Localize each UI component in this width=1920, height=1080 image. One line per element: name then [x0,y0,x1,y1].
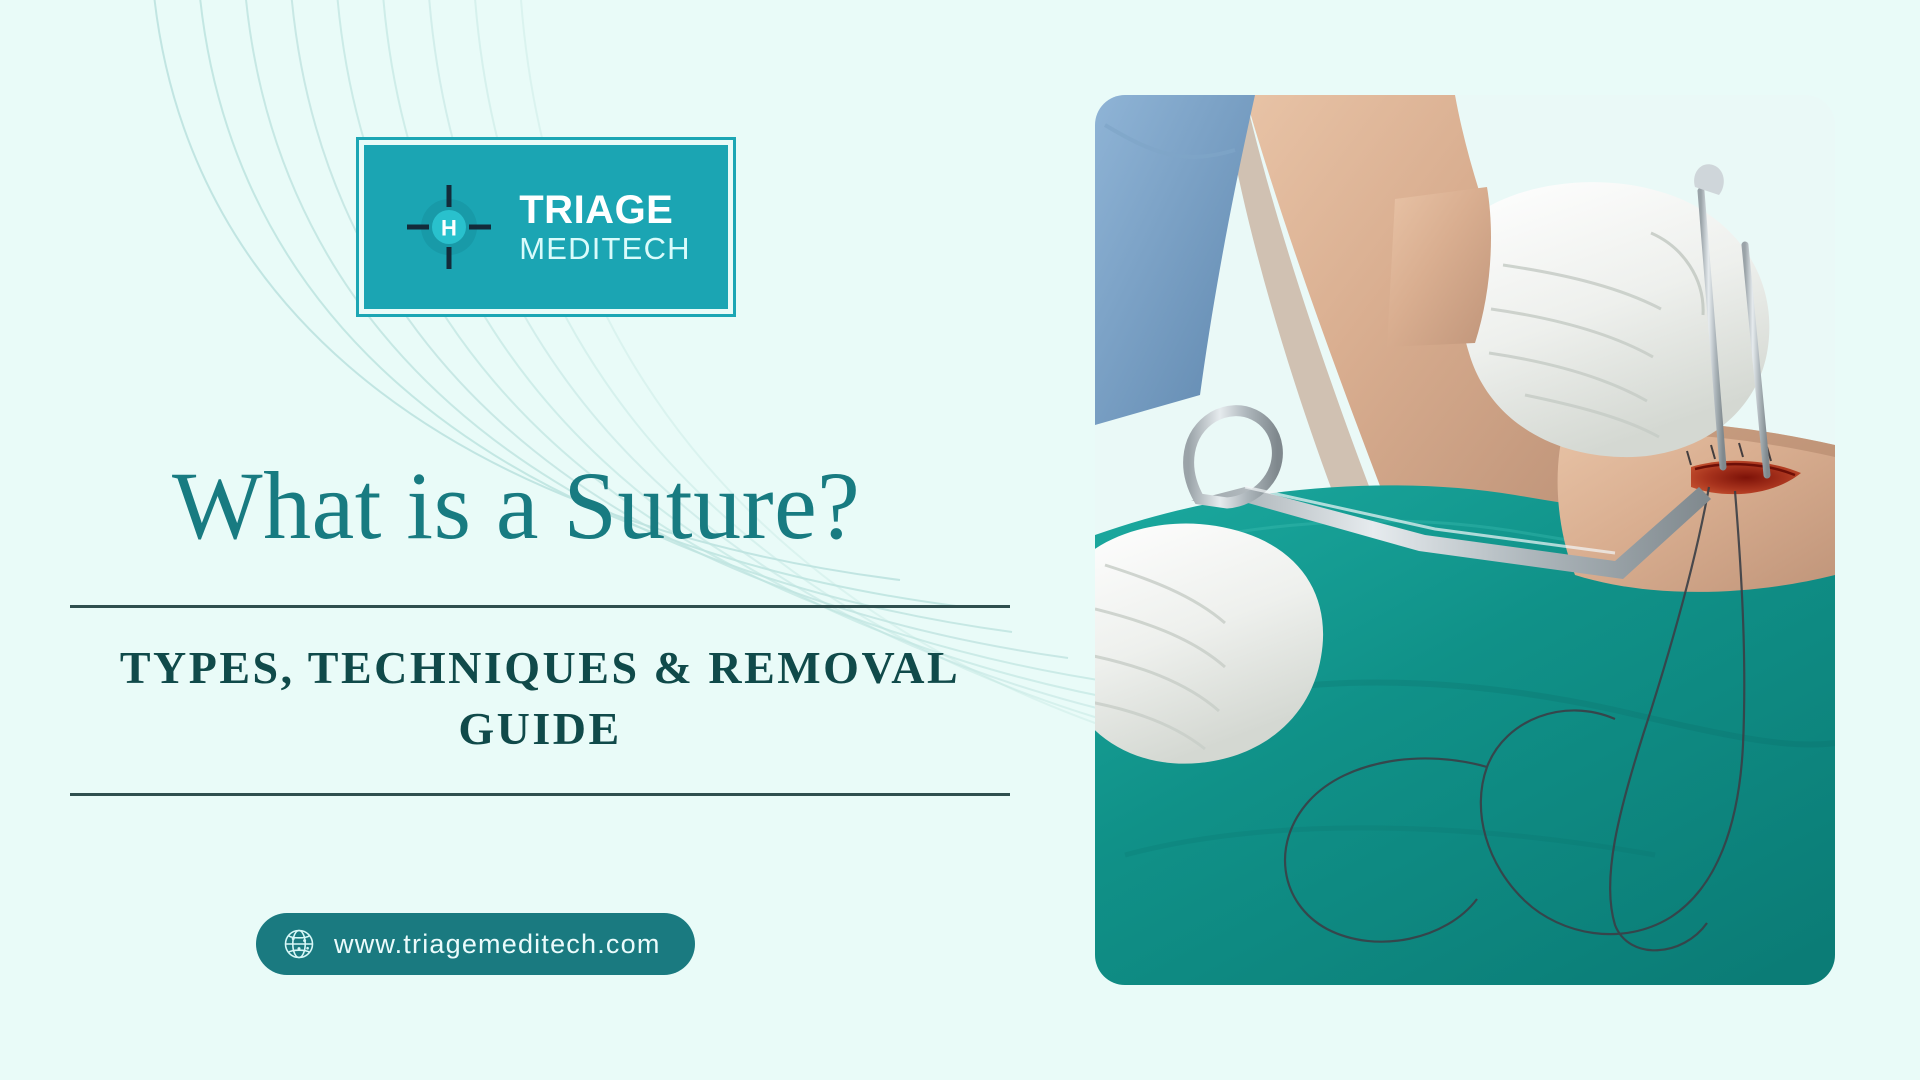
website-url-text: www.triagemeditech.com [334,929,661,960]
logo-icon-letter: H [441,216,457,241]
logo-name-primary: TRIAGE [519,190,673,230]
hero-photo [1095,95,1835,985]
logo-inner-panel: H TRIAGE MEDITECH [364,145,728,309]
website-url-button[interactable]: www.triagemeditech.com [256,913,695,975]
subtitle-band: TYPES, TECHNIQUES & REMOVAL GUIDE [70,605,1010,796]
page-title: What is a Suture? [172,450,860,561]
page-subtitle: TYPES, TECHNIQUES & REMOVAL GUIDE [70,608,1010,793]
crosshair-target-icon: H [401,179,497,275]
globe-icon [282,927,316,961]
divider-rule-bottom [70,793,1010,796]
brand-logo: H TRIAGE MEDITECH [356,137,736,317]
logo-wordmark: TRIAGE MEDITECH [519,190,691,264]
poster-canvas: H TRIAGE MEDITECH What is a Suture? TYPE… [0,0,1920,1080]
logo-name-secondary: MEDITECH [519,233,691,264]
